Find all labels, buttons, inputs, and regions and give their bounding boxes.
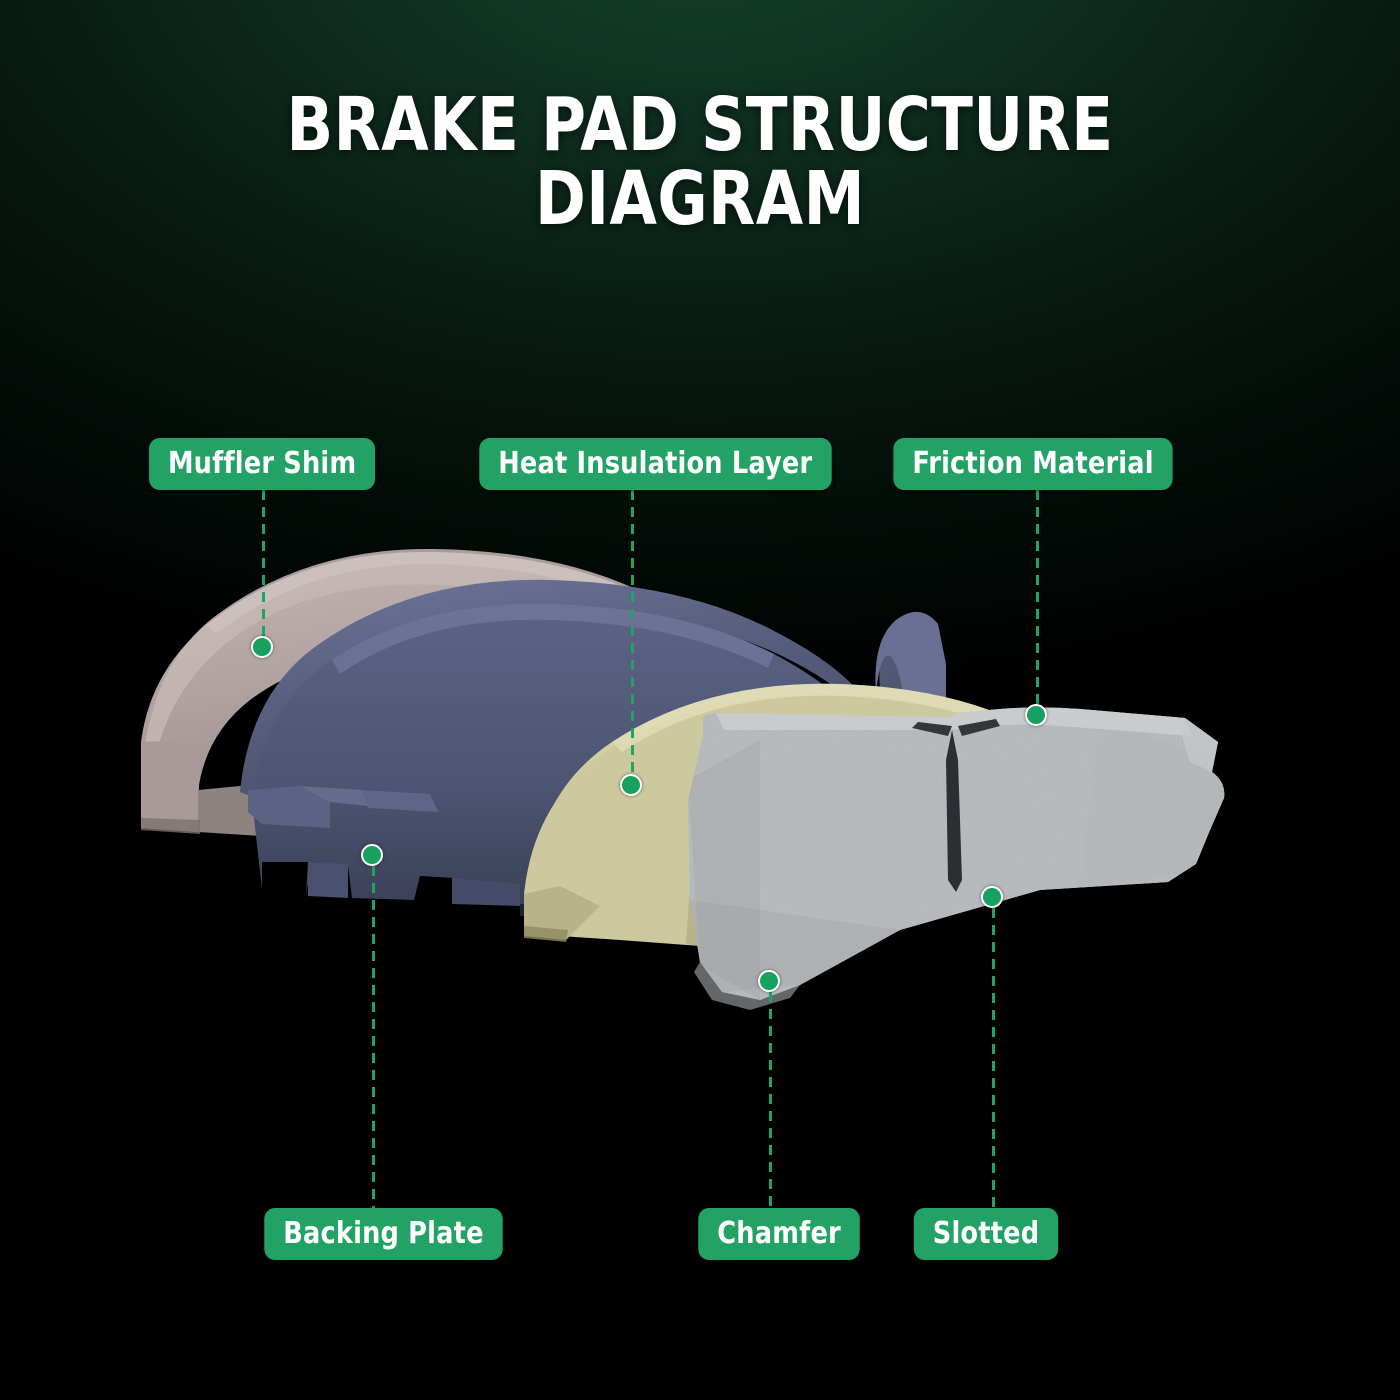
backing-plate-part [240,580,946,916]
label-chip-chamfer[interactable]: Chamfer [698,1208,860,1260]
anchor-dot-chamfer [758,970,780,992]
leader-line-muffler-shim [262,490,265,638]
anchor-dot-backing-plate [361,844,383,866]
page-title: BRAKE PAD STRUCTURE DIAGRAM [56,88,1344,236]
leader-line-slotted [992,908,995,1208]
label-chip-muffler-shim[interactable]: Muffler Shim [149,438,375,490]
anchor-dot-muffler-shim [251,636,273,658]
leader-line-heat-insulation-layer [631,490,634,776]
label-chip-slotted[interactable]: Slotted [914,1208,1058,1260]
label-chip-friction-material[interactable]: Friction Material [893,438,1172,490]
leader-line-chamfer [769,992,772,1208]
label-chip-heat-insulation-layer[interactable]: Heat Insulation Layer [479,438,831,490]
leader-line-friction-material [1036,490,1039,706]
friction-material-part [680,700,1240,1010]
leader-line-backing-plate [372,866,375,1208]
diagram-canvas: BRAKE PAD STRUCTURE DIAGRAM [0,0,1400,1400]
anchor-dot-friction-material [1025,704,1047,726]
anchor-dot-slotted [981,886,1003,908]
slot-groove [912,719,1000,892]
label-chip-backing-plate[interactable]: Backing Plate [264,1208,502,1260]
heat-insulation-layer-part [524,684,1022,946]
anchor-dot-heat-insulation-layer [620,774,642,796]
